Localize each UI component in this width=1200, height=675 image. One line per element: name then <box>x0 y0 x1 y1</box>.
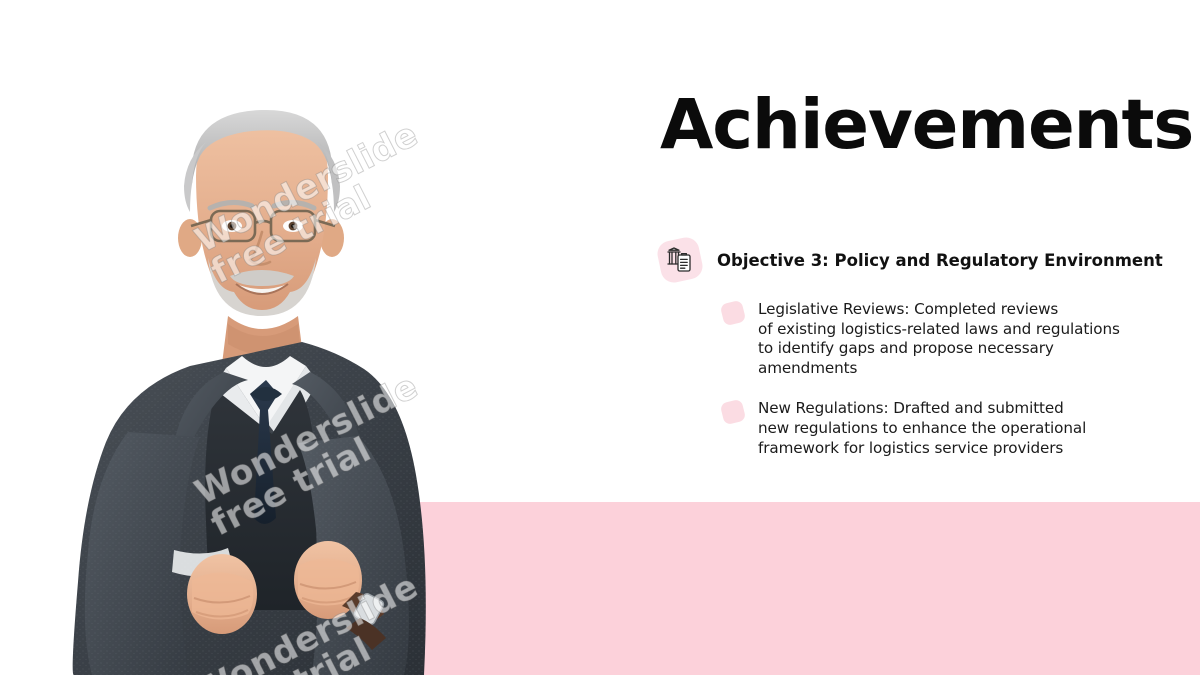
pillar-clipboard-icon <box>657 238 703 284</box>
pink-rounded-square-bullet-icon <box>720 300 747 327</box>
page-title: Achievements <box>660 91 1193 160</box>
objective-heading-row: Objective 3: Policy and Regulatory Envir… <box>657 238 1137 284</box>
list-item: Legislative Reviews: Completed reviews o… <box>722 300 1142 378</box>
list-item-text: Legislative Reviews: Completed reviews o… <box>758 300 1120 378</box>
pink-banner <box>420 502 1200 675</box>
presenter-photo: Wonderslide free trial Wonderslide free … <box>40 80 480 675</box>
pink-rounded-square-bullet-icon <box>720 399 747 426</box>
list-item-text: New Regulations: Drafted and submitted n… <box>758 399 1086 458</box>
slide-canvas: Wonderslide free trial Wonderslide free … <box>0 0 1200 675</box>
achievements-bullet-list: Legislative Reviews: Completed reviews o… <box>722 300 1142 479</box>
list-item: New Regulations: Drafted and submitted n… <box>722 399 1142 458</box>
objective-heading: Objective 3: Policy and Regulatory Envir… <box>717 251 1163 271</box>
